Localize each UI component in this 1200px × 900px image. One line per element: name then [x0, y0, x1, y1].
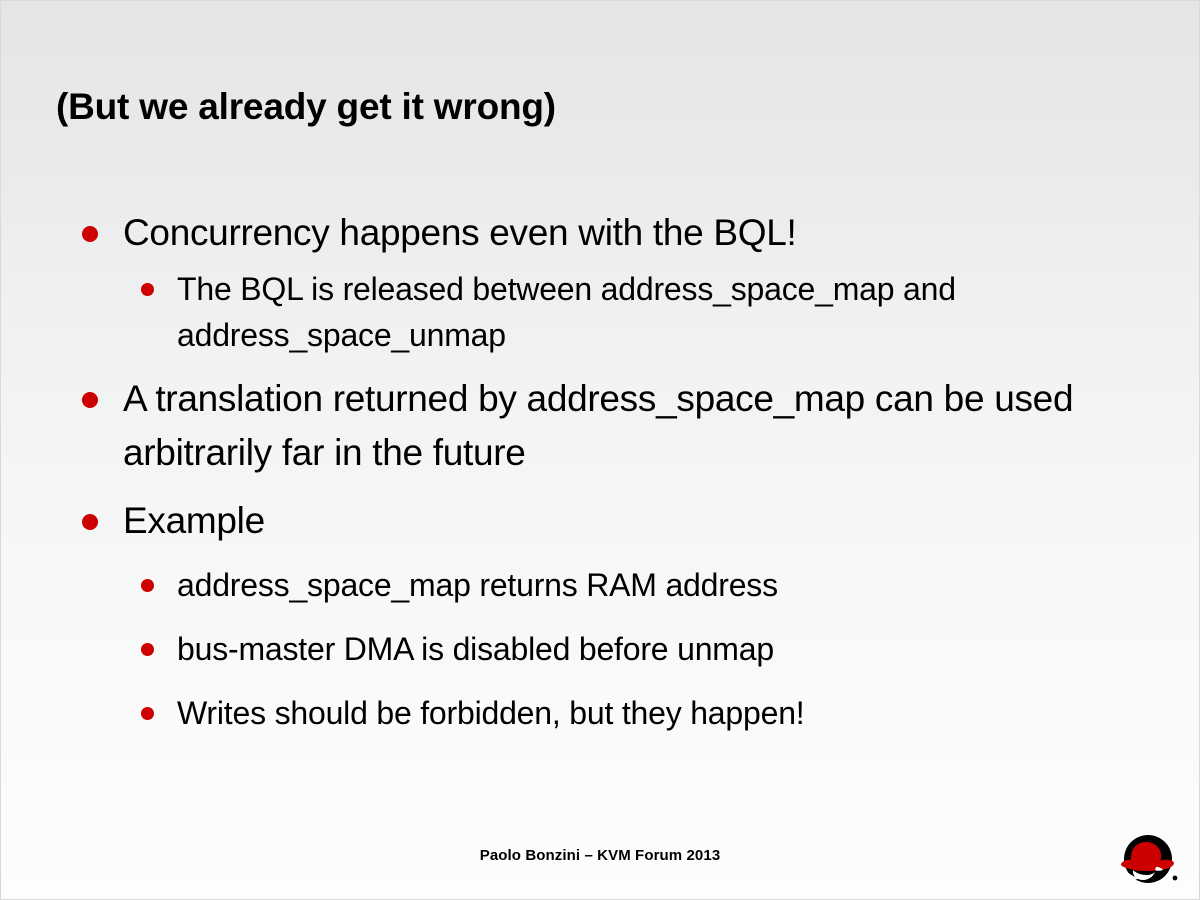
- bullet-text: A translation returned by address_space_…: [123, 378, 1073, 473]
- bullet-dot-icon: [141, 643, 154, 656]
- bullet-text: Example: [123, 500, 265, 541]
- red-hat-shadowman-logo: [1113, 834, 1183, 888]
- presentation-slide: (But we already get it wrong) Concurrenc…: [0, 0, 1200, 900]
- bullet-text: Writes should be forbidden, but they hap…: [177, 695, 804, 731]
- bullet-level2: bus-master DMA is disabled before unmap: [57, 626, 1147, 672]
- red-hat-shadowman-icon: [1113, 834, 1183, 888]
- slide-body: Concurrency happens even with the BQL! T…: [57, 206, 1147, 736]
- bullet-dot-icon: [141, 707, 154, 720]
- bullet-dot-icon: [141, 283, 154, 296]
- bullet-text: The BQL is released between address_spac…: [177, 271, 956, 353]
- bullet-text: bus-master DMA is disabled before unmap: [177, 631, 774, 667]
- bullet-level2: address_space_map returns RAM address: [57, 562, 1147, 608]
- bullet-level2: The BQL is released between address_spac…: [57, 266, 1147, 358]
- bullet-dot-icon: [141, 579, 154, 592]
- slide-footer: Paolo Bonzini – KVM Forum 2013: [1, 847, 1199, 864]
- slide-title: (But we already get it wrong): [56, 85, 1146, 129]
- bullet-dot-icon: [82, 392, 98, 408]
- bullet-text: address_space_map returns RAM address: [177, 567, 778, 603]
- bullet-level1: A translation returned by address_space_…: [57, 372, 1147, 480]
- bullet-level1: Example: [57, 494, 1147, 548]
- bullet-text: Concurrency happens even with the BQL!: [123, 212, 797, 253]
- bullet-dot-icon: [82, 514, 98, 530]
- bullet-dot-icon: [82, 226, 98, 242]
- bullet-level1: Concurrency happens even with the BQL!: [57, 206, 1147, 260]
- bullet-level2: Writes should be forbidden, but they hap…: [57, 690, 1147, 736]
